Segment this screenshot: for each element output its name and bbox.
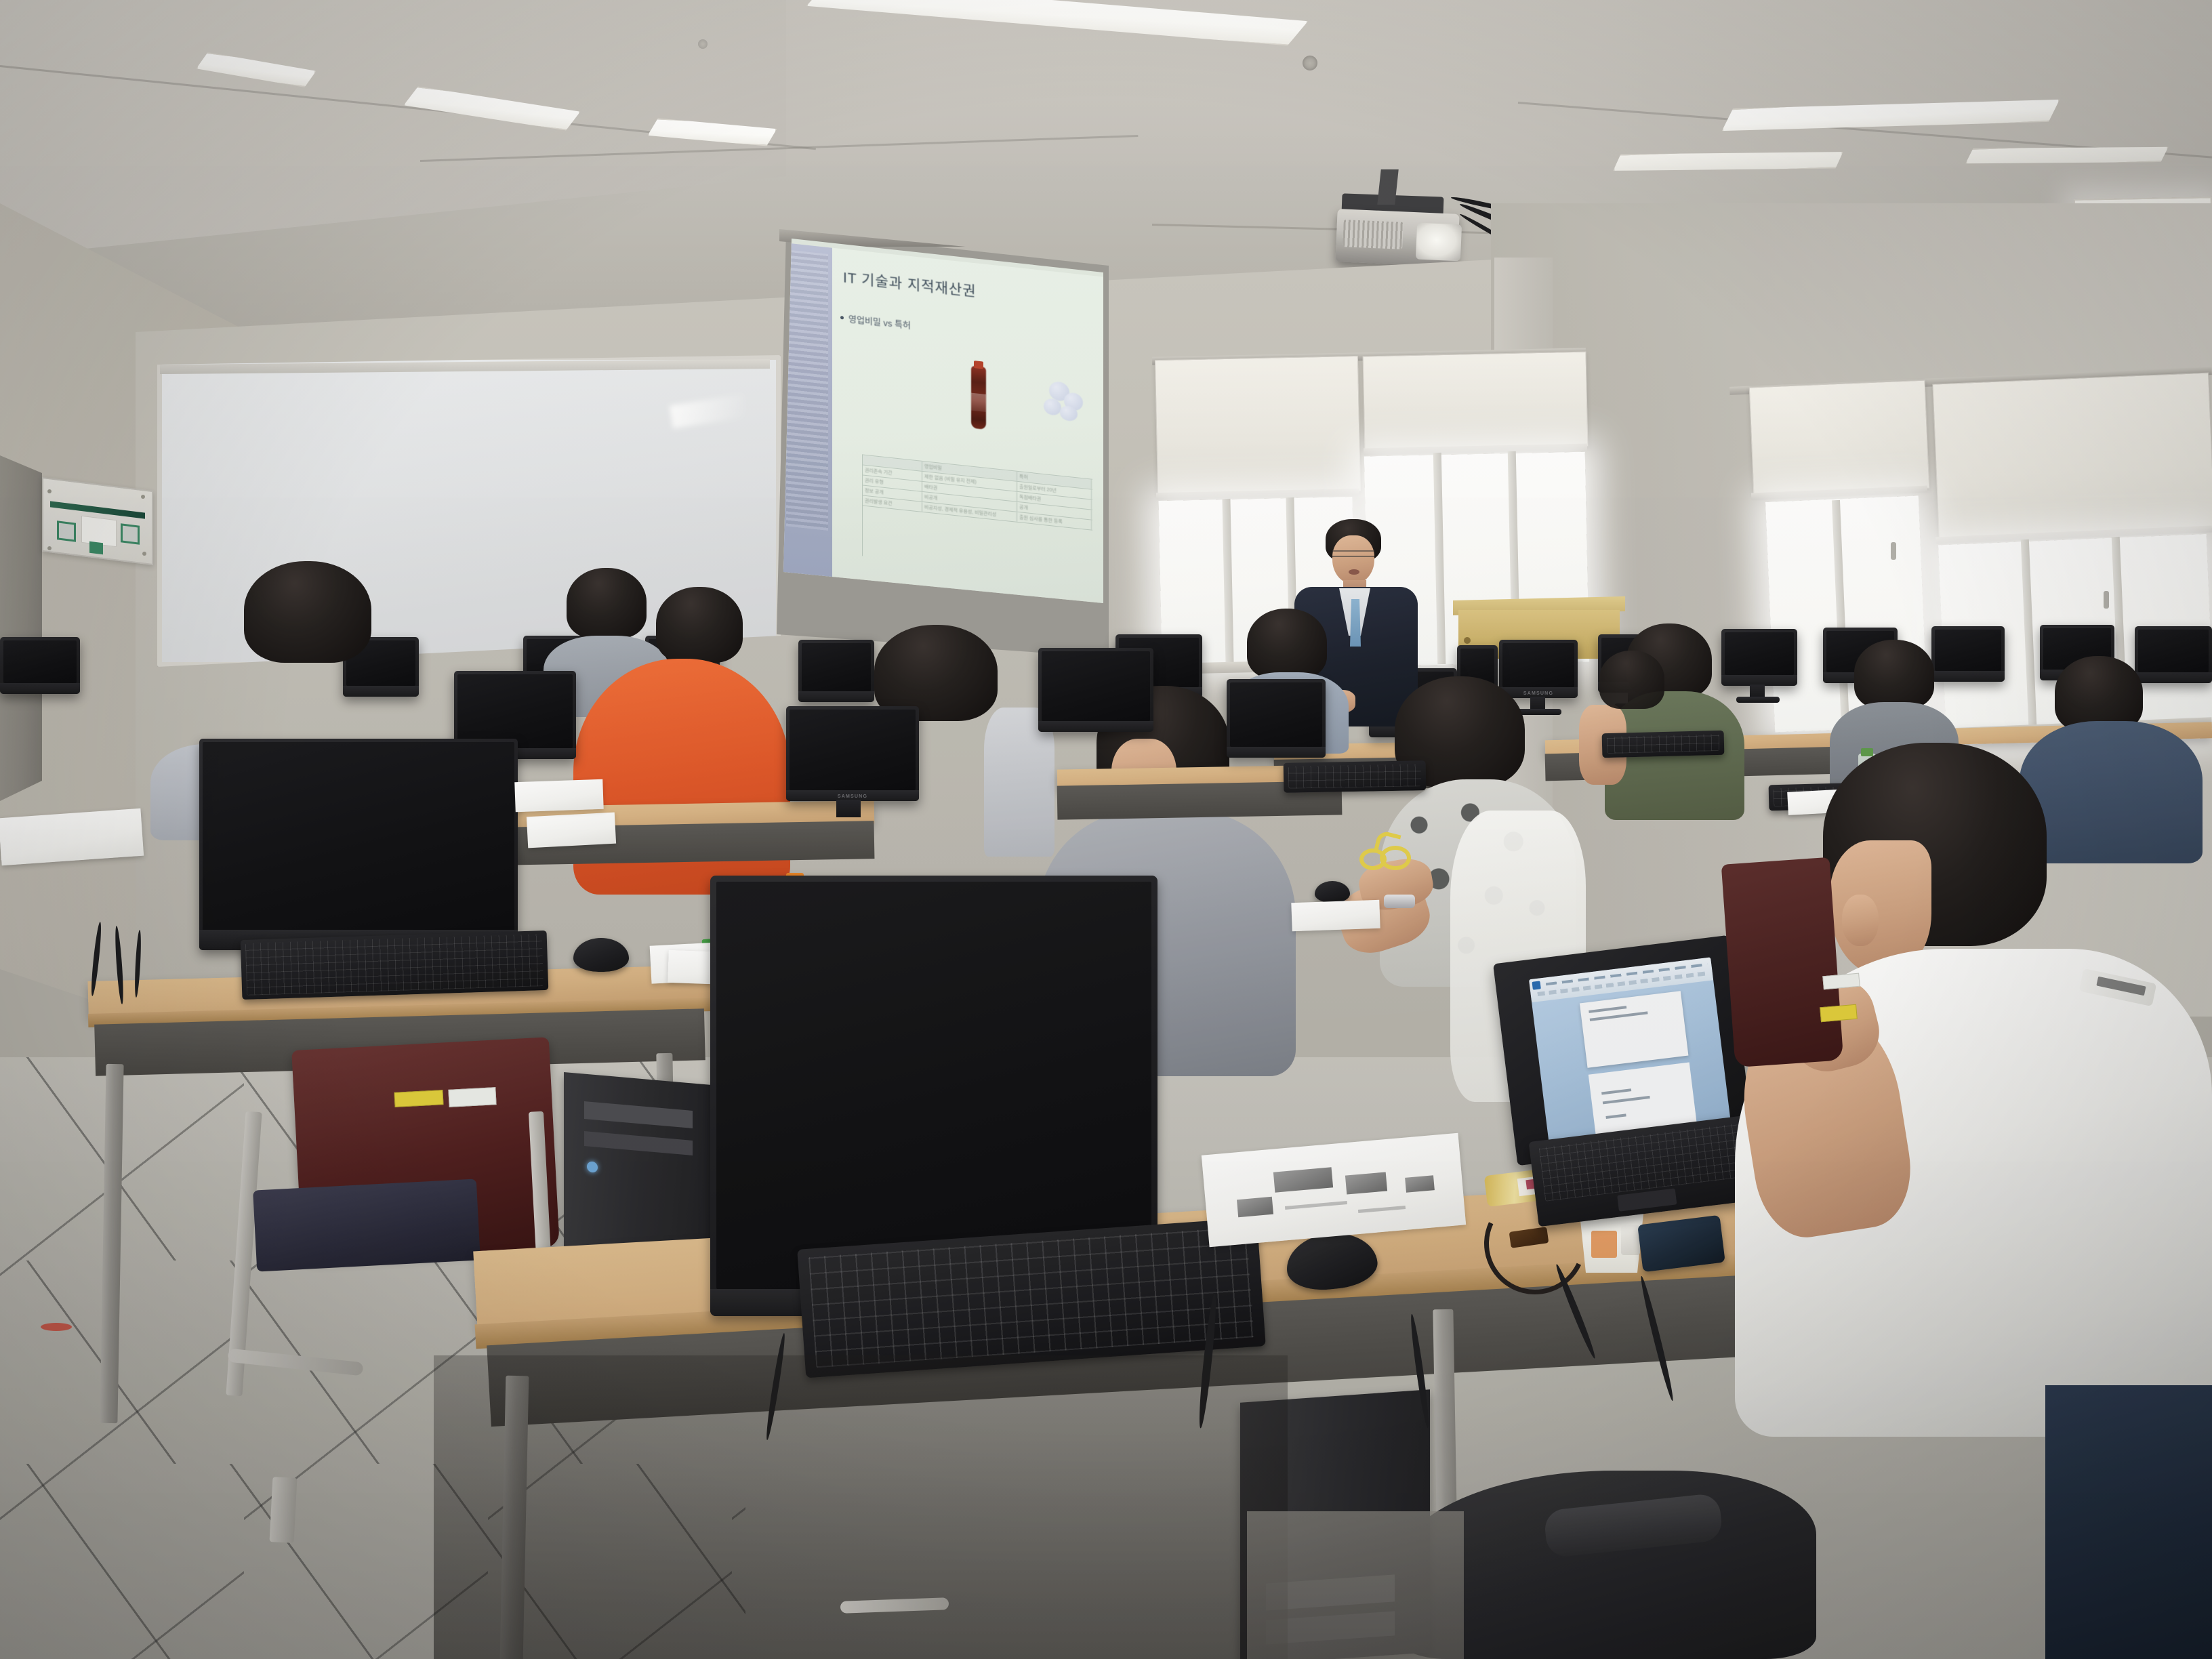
paper-sheet (1291, 900, 1380, 932)
keyboard[interactable] (1284, 760, 1427, 793)
paper-sheet (527, 813, 616, 848)
student-head (656, 587, 743, 663)
handout-image (1345, 1172, 1387, 1194)
plaque-screw (141, 495, 145, 499)
mouse[interactable] (1315, 881, 1350, 903)
slide-bullet-icon (840, 316, 844, 320)
plaque-screw (47, 489, 52, 493)
projector-vent (1343, 220, 1404, 249)
laptop-screen[interactable] (1529, 957, 1731, 1145)
monitor (2135, 626, 2212, 683)
slide-bullet-text: 영업비밀 vs 특허 (848, 312, 911, 331)
classroom-photo: IT 기술과 지적재산권 영업비밀 vs 특허 영업비밀 특허 권리존속 기간 … (0, 0, 2212, 1659)
window-latch (2104, 591, 2109, 609)
projector-mount (1377, 169, 1398, 205)
plaque-qr-icon (57, 520, 76, 541)
student-head (567, 568, 647, 638)
monitor (1227, 679, 1326, 758)
student-trousers (2045, 1385, 2212, 1659)
asset-tag (1820, 1004, 1858, 1023)
monitor (1931, 626, 2005, 682)
slide: IT 기술과 지적재산권 영업비밀 vs 특허 영업비밀 특허 권리존속 기간 … (783, 243, 1103, 606)
roller-blind (1155, 356, 1361, 495)
handout-image (1237, 1197, 1273, 1217)
monitor-logo: SAMSUNG (838, 794, 867, 799)
chair-seat (253, 1179, 480, 1271)
window-latch (1891, 542, 1896, 560)
roller-blind (1749, 380, 1929, 496)
slide-table: 영업비밀 특허 권리존속 기간 제한 없음 (비밀 유지 전제) 출원일로부터 … (862, 454, 1092, 580)
barcode-label (448, 1087, 496, 1107)
asset-tag (394, 1090, 443, 1107)
monitor: SAMSUNG (199, 739, 518, 950)
chair-leg (270, 1477, 298, 1543)
floor-shadow (1247, 1511, 1464, 1659)
projector-lens (1416, 223, 1462, 262)
keyboard[interactable] (1602, 731, 1725, 758)
plaque-screw (142, 552, 146, 556)
lectern-knob (1464, 637, 1471, 644)
door-panel (0, 455, 42, 801)
roller-blind (1363, 352, 1589, 451)
monitor (1721, 629, 1797, 686)
handout-image (1405, 1175, 1435, 1193)
monitor: SAMSUNG (1499, 640, 1578, 698)
monitor (1038, 648, 1153, 732)
presenter-glasses (1332, 550, 1374, 557)
laptop-trackpad[interactable] (1617, 1188, 1677, 1211)
plaque-logo-icon (89, 541, 103, 554)
monitor (0, 637, 80, 694)
cup-graphic (1621, 1225, 1640, 1255)
student-head (244, 561, 371, 663)
laptop-app-icon (1532, 981, 1540, 989)
plaque-screw (47, 546, 52, 550)
slide-title: IT 기술과 지적재산권 (843, 266, 1094, 314)
student-head (1854, 640, 1934, 709)
wristwatch (1384, 895, 1415, 908)
plaque-qr-icon (121, 523, 140, 544)
paper-sheet (514, 779, 603, 813)
monitor-base (1736, 697, 1780, 703)
bottle-cap (1861, 748, 1873, 756)
desk-shadow (434, 1355, 1288, 1659)
student-head (1599, 651, 1664, 709)
floor-debris (41, 1323, 72, 1331)
smoke-detector (1303, 56, 1317, 70)
laptop-document-page (1580, 991, 1689, 1068)
monitor: SAMSUNG (786, 706, 919, 801)
cup-graphic (1591, 1231, 1617, 1258)
ceiling-fixture (698, 39, 708, 49)
slide-sidebar (783, 243, 832, 577)
presenter-mouth (1349, 569, 1359, 575)
monitor-logo: SAMSUNG (1523, 691, 1553, 696)
keyboard[interactable] (241, 930, 549, 1000)
student-blue-torso (2020, 721, 2203, 863)
monitor-stand (836, 800, 861, 817)
monitor (798, 640, 874, 702)
student-head (1247, 609, 1327, 679)
smartphone[interactable] (1637, 1215, 1725, 1272)
chair[interactable] (1721, 857, 1844, 1067)
roller-blind (1932, 373, 2212, 540)
pc-power-led (587, 1161, 598, 1172)
slide-bottle-cap (974, 361, 983, 369)
slide-bottle-label (971, 393, 986, 412)
presenter-tie (1350, 599, 1361, 647)
student-ear (1842, 895, 1879, 946)
paper-sheet (0, 808, 144, 865)
presenter-face (1332, 535, 1374, 584)
